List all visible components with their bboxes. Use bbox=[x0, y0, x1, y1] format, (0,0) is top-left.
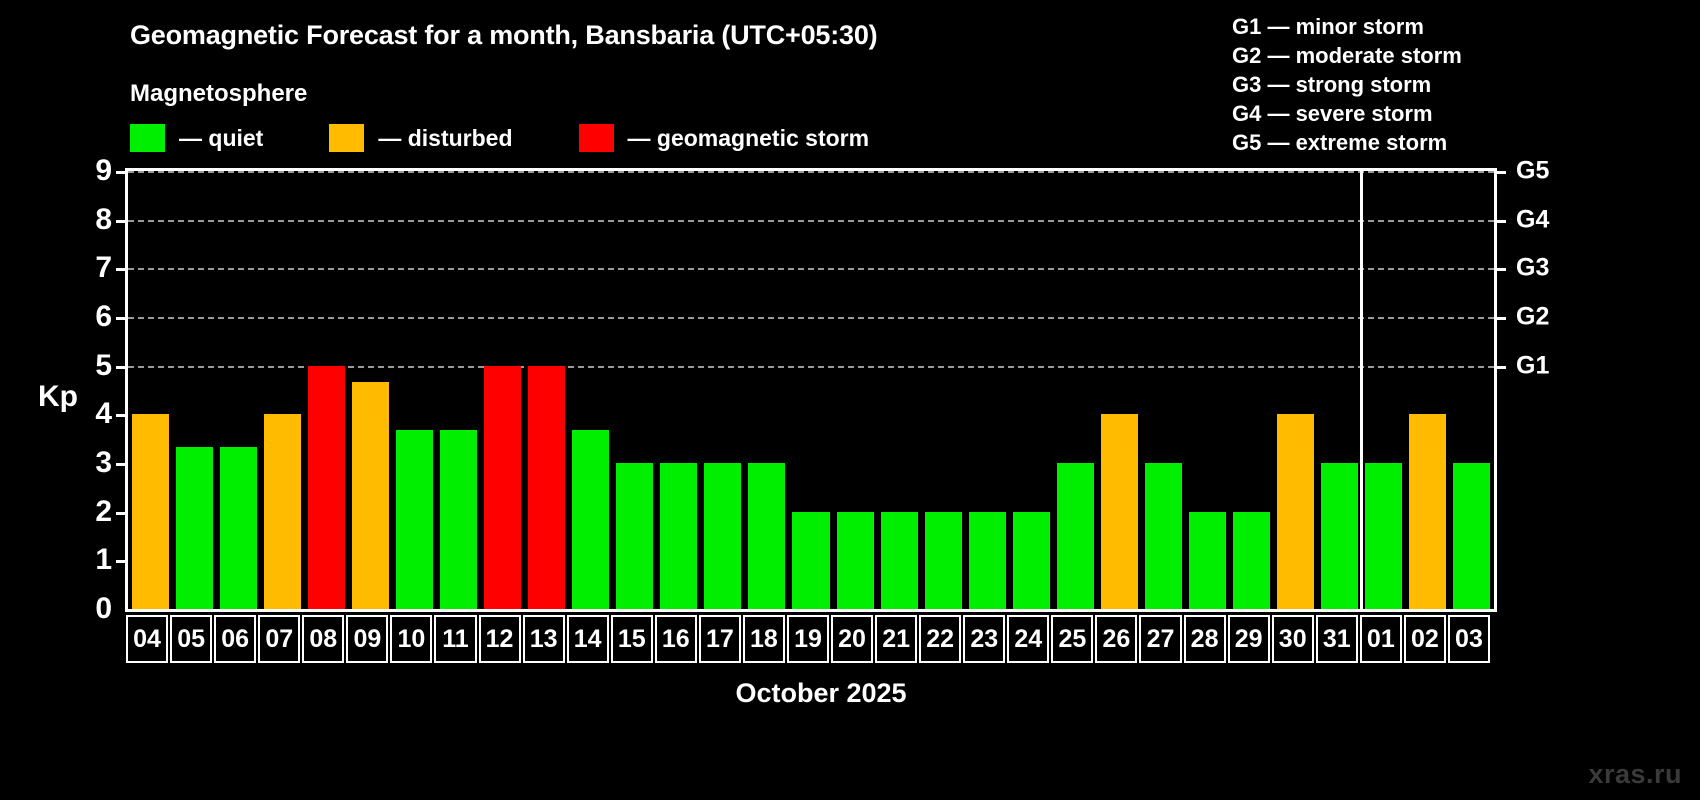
y-axis-tick bbox=[116, 171, 128, 174]
bar bbox=[1409, 414, 1446, 609]
day-label: 12 bbox=[479, 615, 521, 663]
y-axis-tick bbox=[116, 560, 128, 563]
y-axis-tick bbox=[116, 414, 128, 417]
g-axis-label: G3 bbox=[1516, 254, 1586, 283]
day-label: 18 bbox=[743, 615, 785, 663]
y-axis-tick bbox=[116, 268, 128, 271]
day-label: 14 bbox=[567, 615, 609, 663]
day-label: 07 bbox=[258, 615, 300, 663]
g-axis-tick bbox=[1494, 220, 1506, 223]
watermark: xras.ru bbox=[1588, 759, 1682, 790]
legend-item-label: — disturbed bbox=[378, 125, 512, 152]
bar bbox=[881, 512, 918, 609]
day-label: 17 bbox=[699, 615, 741, 663]
y-axis-tick bbox=[116, 317, 128, 320]
day-label: 16 bbox=[655, 615, 697, 663]
g-axis-label: G2 bbox=[1516, 303, 1586, 332]
g-axis-tick bbox=[1494, 317, 1506, 320]
day-label: 10 bbox=[390, 615, 432, 663]
bar bbox=[837, 512, 874, 609]
bar bbox=[748, 463, 785, 609]
day-label: 26 bbox=[1095, 615, 1137, 663]
y-axis-label: 2 bbox=[72, 495, 112, 529]
bar bbox=[132, 414, 169, 609]
bar bbox=[308, 366, 345, 609]
day-label: 30 bbox=[1272, 615, 1314, 663]
legend-item: — geomagnetic storm bbox=[579, 124, 870, 152]
bar bbox=[352, 382, 389, 609]
day-label: 23 bbox=[963, 615, 1005, 663]
bar bbox=[440, 430, 477, 609]
day-label: 01 bbox=[1360, 615, 1402, 663]
g-axis-label: G1 bbox=[1516, 351, 1586, 380]
bar bbox=[528, 366, 565, 609]
green-square-icon bbox=[130, 124, 165, 152]
bar bbox=[484, 366, 521, 609]
bar bbox=[1365, 463, 1402, 609]
legend-item: — quiet bbox=[130, 124, 263, 152]
bar bbox=[969, 512, 1006, 609]
geomagnetic-forecast-chart: Geomagnetic Forecast for a month, Bansba… bbox=[0, 0, 1700, 800]
page-title: Geomagnetic Forecast for a month, Bansba… bbox=[130, 20, 877, 51]
y-axis-tick bbox=[116, 366, 128, 369]
x-axis-title: October 2025 bbox=[0, 678, 1700, 709]
x-axis-title-text: October 2025 bbox=[735, 678, 906, 709]
y-axis-label: 0 bbox=[72, 592, 112, 626]
bar bbox=[704, 463, 741, 609]
g-axis-label: G5 bbox=[1516, 157, 1586, 186]
y-axis-label: 7 bbox=[72, 251, 112, 285]
day-label: 15 bbox=[611, 615, 653, 663]
bars-group bbox=[128, 171, 1494, 609]
g-axis-tick bbox=[1494, 171, 1506, 174]
bar bbox=[1453, 463, 1490, 609]
day-label: 13 bbox=[523, 615, 565, 663]
y-axis-label: 4 bbox=[72, 397, 112, 431]
legend-item-label: — geomagnetic storm bbox=[628, 125, 870, 152]
day-label: 11 bbox=[434, 615, 476, 663]
storm-scale-key-row: G3 — strong storm bbox=[1232, 70, 1462, 99]
y-axis-label: 1 bbox=[72, 543, 112, 577]
bar bbox=[1233, 512, 1270, 609]
y-axis-label: 3 bbox=[72, 446, 112, 480]
bar bbox=[176, 447, 213, 609]
plot-area bbox=[125, 168, 1497, 612]
month-divider-line bbox=[1360, 171, 1363, 609]
red-square-icon bbox=[579, 124, 614, 152]
bar bbox=[1189, 512, 1226, 609]
bar bbox=[1013, 512, 1050, 609]
bar bbox=[572, 430, 609, 609]
y-axis-label: 8 bbox=[72, 203, 112, 237]
bar bbox=[1101, 414, 1138, 609]
day-label: 21 bbox=[875, 615, 917, 663]
day-label: 03 bbox=[1448, 615, 1490, 663]
day-label: 27 bbox=[1139, 615, 1181, 663]
g-axis-tick bbox=[1494, 268, 1506, 271]
bar bbox=[616, 463, 653, 609]
day-label: 05 bbox=[170, 615, 212, 663]
day-label: 22 bbox=[919, 615, 961, 663]
g-axis-label: G4 bbox=[1516, 205, 1586, 234]
bar bbox=[925, 512, 962, 609]
day-label: 20 bbox=[831, 615, 873, 663]
day-label: 04 bbox=[126, 615, 168, 663]
day-label: 28 bbox=[1184, 615, 1226, 663]
x-axis-day-labels: 0405060708091011121314151617181920212223… bbox=[125, 615, 1497, 663]
bar bbox=[1145, 463, 1182, 609]
day-label: 02 bbox=[1404, 615, 1446, 663]
bar bbox=[220, 447, 257, 609]
bar bbox=[660, 463, 697, 609]
day-label: 06 bbox=[214, 615, 256, 663]
storm-scale-key: G1 — minor stormG2 — moderate stormG3 — … bbox=[1232, 12, 1462, 157]
legend-item-label: — quiet bbox=[179, 125, 263, 152]
storm-scale-key-row: G5 — extreme storm bbox=[1232, 128, 1462, 157]
y-axis-tick bbox=[116, 512, 128, 515]
y-axis-tick bbox=[116, 220, 128, 223]
bar bbox=[1277, 414, 1314, 609]
day-label: 19 bbox=[787, 615, 829, 663]
orange-square-icon bbox=[329, 124, 364, 152]
magnetosphere-label: Magnetosphere bbox=[130, 80, 307, 108]
storm-scale-key-row: G1 — minor storm bbox=[1232, 12, 1462, 41]
storm-scale-key-row: G4 — severe storm bbox=[1232, 99, 1462, 128]
y-axis-label: 6 bbox=[72, 300, 112, 334]
bar bbox=[1057, 463, 1094, 609]
bar bbox=[396, 430, 433, 609]
storm-scale-key-row: G2 — moderate storm bbox=[1232, 41, 1462, 70]
legend-item: — disturbed bbox=[329, 124, 512, 152]
day-label: 08 bbox=[302, 615, 344, 663]
day-label: 25 bbox=[1051, 615, 1093, 663]
bar bbox=[1321, 463, 1358, 609]
g-axis-tick bbox=[1494, 366, 1506, 369]
y-axis-label: 9 bbox=[72, 154, 112, 188]
day-label: 29 bbox=[1228, 615, 1270, 663]
legend: — quiet— disturbed— geomagnetic storm bbox=[130, 124, 935, 152]
y-axis-tick bbox=[116, 463, 128, 466]
bar bbox=[792, 512, 829, 609]
day-label: 24 bbox=[1007, 615, 1049, 663]
bar bbox=[264, 414, 301, 609]
y-axis-label: 5 bbox=[72, 349, 112, 383]
day-label: 09 bbox=[346, 615, 388, 663]
day-label: 31 bbox=[1316, 615, 1358, 663]
